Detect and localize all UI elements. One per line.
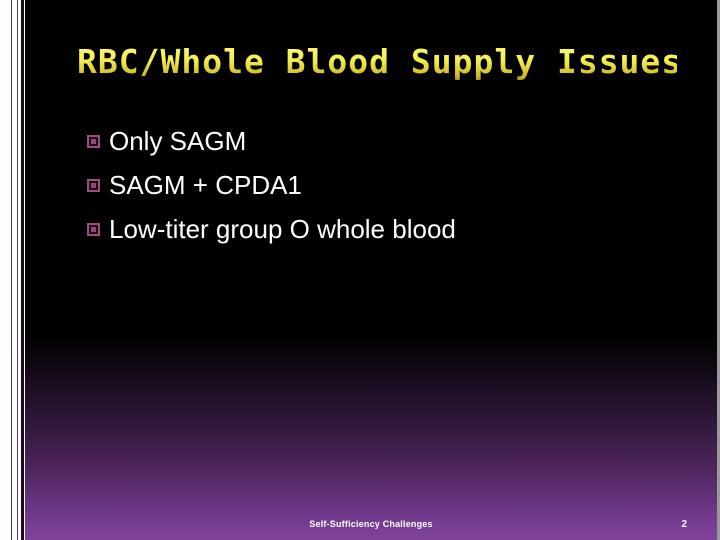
list-item: Low-titer group O whole blood <box>87 214 677 248</box>
list-item-label: Low-titer group O whole blood <box>109 214 456 244</box>
left-edge-rule-inner <box>21 0 24 540</box>
square-bullet-icon <box>87 135 100 148</box>
bullet-list: Only SAGM SAGM + CPDA1 Low-titer group O… <box>87 126 677 258</box>
presentation-slide: RBC/Whole Blood Supply Issues Only SAGM … <box>0 0 720 540</box>
left-edge-rule-outer <box>11 0 12 540</box>
footer-note: Self-Sufficiency Challenges <box>25 519 717 529</box>
left-edge-rule-middle <box>17 0 18 540</box>
square-bullet-icon <box>87 223 100 236</box>
list-item: SAGM + CPDA1 <box>87 170 677 204</box>
list-item: Only SAGM <box>87 126 677 160</box>
slide-canvas: RBC/Whole Blood Supply Issues Only SAGM … <box>25 0 717 540</box>
square-bullet-icon <box>87 179 100 192</box>
list-item-label: Only SAGM <box>109 126 246 156</box>
page-number: 2 <box>681 519 687 530</box>
list-item-label: SAGM + CPDA1 <box>109 170 302 200</box>
slide-title: RBC/Whole Blood Supply Issues <box>77 42 677 82</box>
